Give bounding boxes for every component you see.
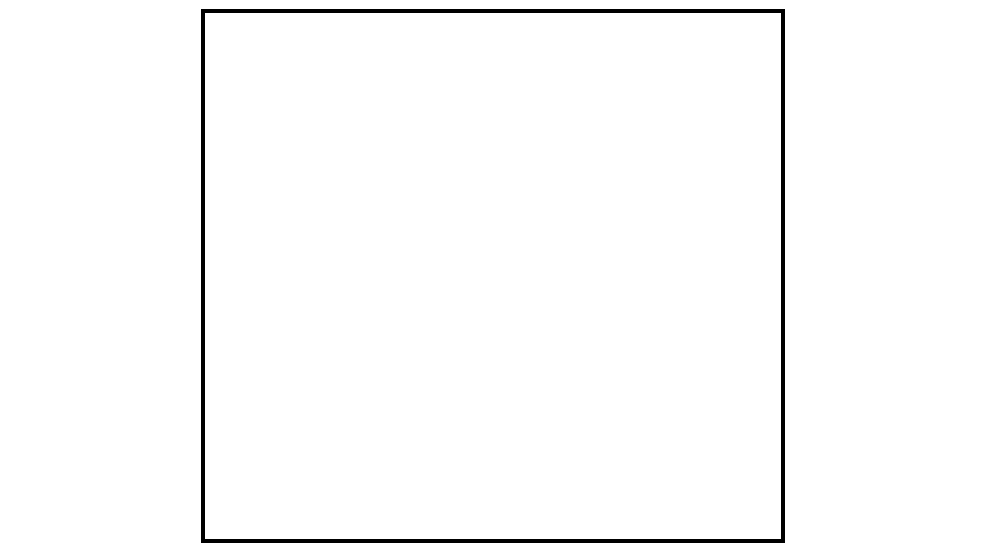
diagram-graphics-layer [0,0,1000,555]
block-diagram-canvas [0,0,1000,555]
controller-block [203,11,783,541]
